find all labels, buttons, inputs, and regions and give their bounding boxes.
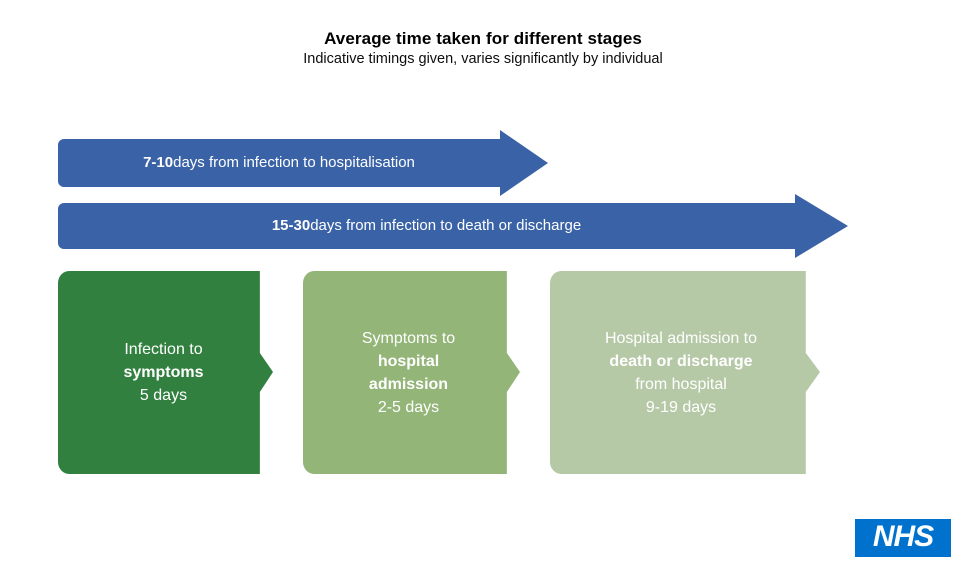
timeline-arrow-infection-to-death-or-discharge: 15-30 days from infection to death or di… <box>58 194 848 258</box>
stage-box-infection-to-symptoms: Infection to symptoms 5 days <box>58 271 273 474</box>
heading-block: Average time taken for different stages … <box>0 28 966 69</box>
page-title: Average time taken for different stages <box>0 28 966 49</box>
stage-box-symptoms-to-hospital-admission: Symptoms to hospital admission 2-5 days <box>303 271 520 474</box>
stage-1-line1: Infection to <box>68 338 259 361</box>
stage-3-duration: 9-19 days <box>558 396 804 419</box>
stage-3-text: Hospital admission to death or discharge… <box>546 327 816 419</box>
stage-2-line2: hospital <box>312 350 505 373</box>
stage-box-hospital-admission-to-death-or-discharge: Hospital admission to death or discharge… <box>550 271 820 474</box>
stage-3-line2: death or discharge <box>558 350 804 373</box>
stage-3-line3: from hospital <box>558 373 804 396</box>
stage-3-line1: Hospital admission to <box>558 327 804 350</box>
page-subtitle: Indicative timings given, varies signifi… <box>0 50 966 69</box>
stage-2-text: Symptoms to hospital admission 2-5 days <box>300 327 517 419</box>
stage-2-duration: 2-5 days <box>312 396 505 419</box>
stage-2-line3: admission <box>312 373 505 396</box>
stage-2-line1: Symptoms to <box>312 327 505 350</box>
arrow-shape-icon <box>58 130 548 196</box>
stage-1-duration: 5 days <box>68 384 259 407</box>
arrow-shape-icon <box>58 194 848 258</box>
timeline-arrow-infection-to-hospitalisation: 7-10 days from infection to hospitalisat… <box>58 130 548 196</box>
stage-1-line2: symptoms <box>68 361 259 384</box>
stage-1-text: Infection to symptoms 5 days <box>56 338 271 407</box>
nhs-logo-text: NHS <box>873 522 933 552</box>
nhs-logo: NHS <box>855 519 951 557</box>
